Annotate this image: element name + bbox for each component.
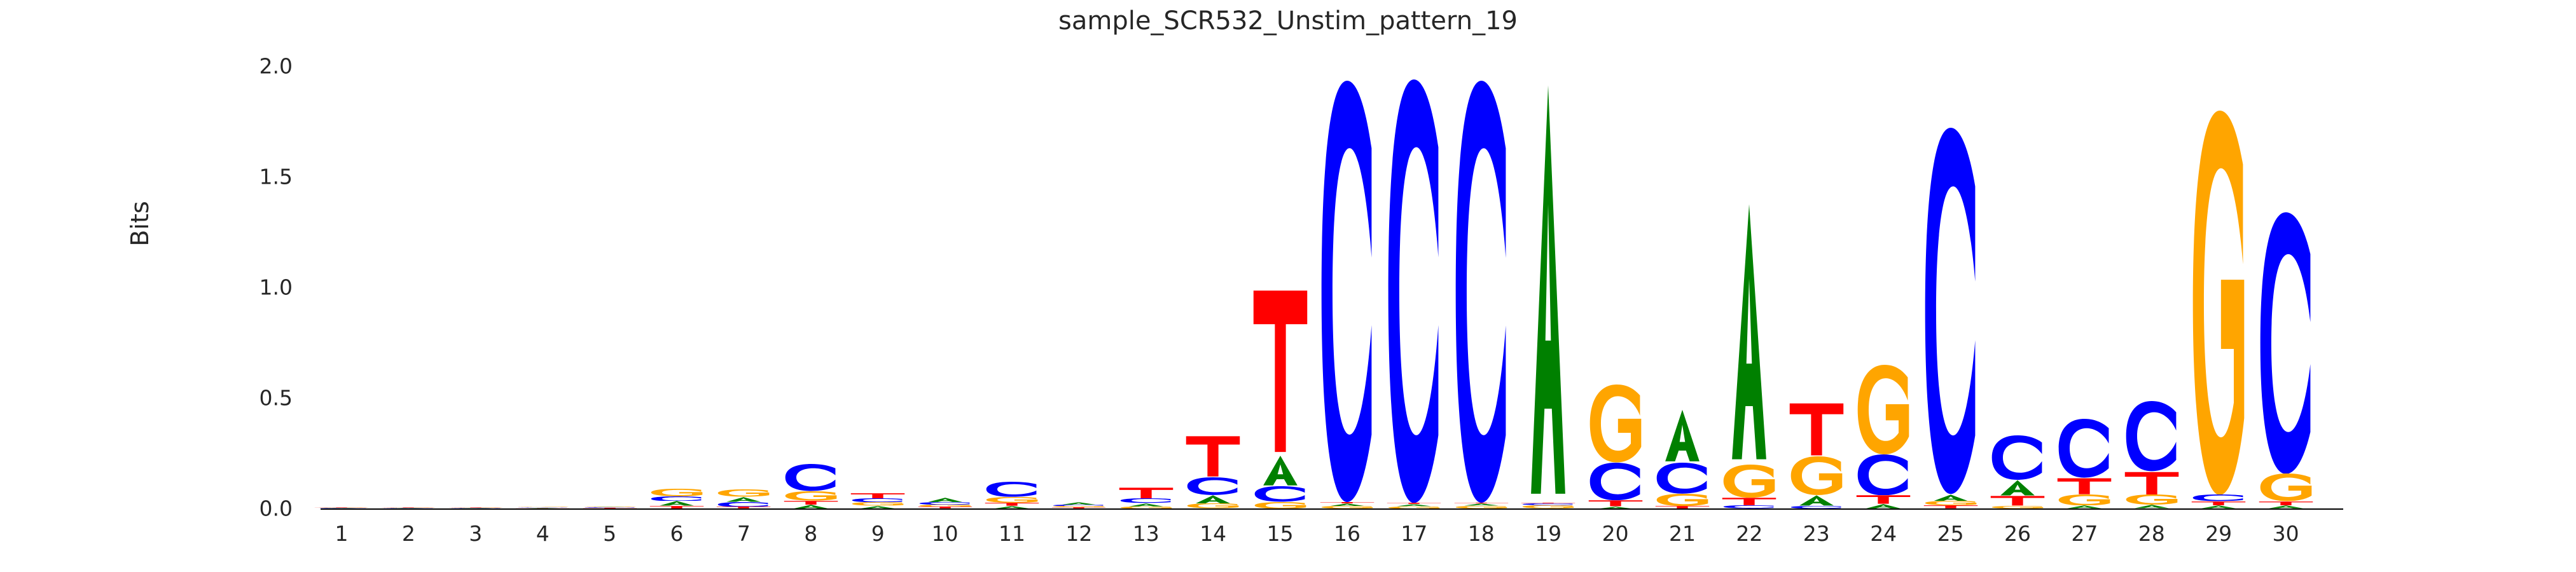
logo-stack — [1048, 502, 1109, 508]
x-tick-label: 17 — [1376, 521, 1452, 546]
x-tick-label: 8 — [773, 521, 849, 546]
x-tick-label: 5 — [572, 521, 648, 546]
x-tick-label: 4 — [504, 521, 581, 546]
x-tick-label: 25 — [1913, 521, 1989, 546]
x-tick-label: 28 — [2114, 521, 2190, 546]
logo-letter-t — [1853, 495, 1914, 504]
logo-letter-t — [1383, 503, 1444, 504]
logo-letter-a — [1987, 480, 2048, 496]
logo-letter-g — [1920, 501, 1981, 505]
logo-letter-t — [847, 493, 908, 498]
logo-letter-a — [1317, 503, 1378, 506]
logo-stack — [780, 464, 841, 508]
x-tick-label: 6 — [639, 521, 715, 546]
logo-letter-t — [1048, 507, 1109, 508]
x-tick-label: 7 — [705, 521, 782, 546]
logo-letter-a — [1920, 494, 1981, 501]
logo-letter-c — [445, 508, 506, 508]
logo-letter-g — [2188, 111, 2249, 495]
logo-letter-c — [1719, 505, 1780, 508]
logo-letter-a — [579, 507, 641, 507]
logo-letter-t — [1920, 505, 1981, 508]
logo-letter-c — [378, 508, 439, 508]
logo-letter-t — [1987, 496, 2048, 506]
logo-letter-c — [1585, 463, 1646, 500]
logo-letter-a — [1116, 503, 1177, 507]
logo-letter-t — [1250, 287, 1311, 455]
logo-stack — [1116, 487, 1177, 508]
logo-stack — [1585, 385, 1646, 508]
x-tick-label: 2 — [370, 521, 447, 546]
logo-letter-a — [445, 508, 506, 508]
logo-letter-a — [2188, 505, 2249, 508]
x-tick-label: 24 — [1845, 521, 1922, 546]
logo-letter-a — [1585, 507, 1646, 508]
logo-letter-t — [1518, 503, 1579, 504]
logo-stack — [1652, 409, 1713, 508]
y-tick-label: 2.0 — [216, 54, 293, 79]
x-tick-label: 29 — [2180, 521, 2257, 546]
logo-letter-g — [1250, 502, 1311, 508]
logo-letter-c — [1987, 435, 2048, 480]
x-tick-label: 20 — [1577, 521, 1654, 546]
logo-letter-a — [378, 508, 439, 508]
logo-stack — [1853, 365, 1914, 508]
logo-letter-a — [1518, 77, 1579, 502]
logo-letter-t — [579, 508, 641, 508]
logo-letter-c — [646, 496, 707, 501]
logo-letter-a — [1853, 504, 1914, 508]
logo-letter-a — [2255, 505, 2316, 508]
x-tick-label: 15 — [1242, 521, 1319, 546]
logo-letter-a — [646, 501, 707, 506]
logo-letter-c — [713, 502, 774, 507]
logo-stack — [311, 507, 372, 508]
logo-stack — [1719, 199, 1780, 508]
x-tick-label: 23 — [1778, 521, 1855, 546]
y-tick-label: 0.5 — [216, 386, 293, 411]
logo-letter-t — [1451, 503, 1512, 504]
x-tick-label: 21 — [1644, 521, 1721, 546]
logo-letter-a — [1786, 495, 1847, 506]
x-tick-label: 10 — [907, 521, 983, 546]
logo-letter-t — [1317, 502, 1378, 503]
logo-letter-g — [713, 489, 774, 496]
logo-letter-t — [1786, 402, 1847, 456]
logo-letter-t — [1652, 506, 1713, 508]
logo-letter-t — [981, 503, 1042, 506]
logo-stack — [1987, 435, 2048, 508]
logo-letter-c — [1652, 463, 1713, 494]
x-axis-line — [321, 508, 2343, 510]
logo-stack — [646, 489, 707, 508]
logo-letter-t — [646, 506, 707, 508]
logo-stack — [1182, 435, 1243, 508]
logo-letter-g — [1987, 506, 2048, 508]
logo-letter-t — [445, 507, 506, 508]
logo-stack — [1786, 402, 1847, 508]
logo-letter-t — [1719, 498, 1780, 505]
logo-stack — [1250, 287, 1311, 508]
y-axis-ticks: 0.00.51.01.52.0 — [210, 0, 293, 572]
x-tick-label: 12 — [1041, 521, 1117, 546]
logo-letter-g — [1048, 506, 1109, 507]
logo-letter-g — [1383, 507, 1444, 508]
logo-letter-g — [1853, 365, 1914, 454]
y-tick-label: 0.0 — [216, 496, 293, 521]
logo-letter-g — [981, 497, 1042, 503]
logo-letter-a — [2121, 505, 2182, 508]
logo-letter-t — [915, 507, 976, 508]
logo-letter-a — [311, 508, 372, 508]
x-tick-label: 3 — [438, 521, 514, 546]
logo-letter-c — [1182, 477, 1243, 495]
logo-stack — [847, 493, 908, 508]
logo-letter-g — [847, 502, 908, 506]
logo-stack — [1920, 128, 1981, 508]
logo-letter-g — [646, 489, 707, 496]
logo-stack — [2188, 111, 2249, 508]
logo-letter-c — [2054, 419, 2115, 478]
logo-letter-a — [847, 506, 908, 508]
logo-letter-c — [981, 482, 1042, 497]
x-tick-label: 9 — [840, 521, 916, 546]
logo-letter-t — [311, 507, 372, 508]
logo-letter-a — [713, 497, 774, 502]
x-tick-label: 1 — [303, 521, 380, 546]
logo-letter-c — [1853, 454, 1914, 495]
logo-letter-g — [1518, 505, 1579, 508]
logo-letter-c — [579, 507, 641, 508]
logo-letter-g — [445, 507, 506, 508]
logo-stack — [512, 507, 573, 508]
logo-letter-c — [2188, 494, 2249, 501]
logo-letter-t — [512, 508, 573, 508]
logo-stack — [1383, 79, 1444, 508]
x-tick-label: 19 — [1510, 521, 1586, 546]
logo-letter-c — [847, 498, 908, 502]
logo-letter-g — [1652, 494, 1713, 506]
x-tick-label: 30 — [2248, 521, 2324, 546]
x-tick-label: 22 — [1711, 521, 1787, 546]
logo-letter-g — [780, 491, 841, 501]
x-tick-label: 27 — [2046, 521, 2122, 546]
logo-letter-c — [1116, 498, 1177, 503]
logo-stack — [915, 498, 976, 508]
logo-letter-a — [1250, 455, 1311, 486]
logo-letter-g — [1719, 465, 1780, 498]
logo-letter-c — [915, 502, 976, 505]
logo-letter-c — [1920, 128, 1981, 494]
x-tick-label: 13 — [1108, 521, 1184, 546]
logo-letter-t — [1585, 500, 1646, 507]
logo-letter-t — [2255, 501, 2316, 505]
logo-letter-g — [1451, 506, 1512, 508]
logo-letter-g — [2121, 494, 2182, 505]
logo-letter-a — [512, 508, 573, 508]
logo-letter-a — [2054, 505, 2115, 508]
logo-letter-c — [512, 507, 573, 508]
logo-letter-t — [2188, 501, 2249, 505]
x-tick-label: 26 — [1979, 521, 2056, 546]
logo-letter-a — [1451, 503, 1512, 505]
logo-letter-a — [1719, 199, 1780, 465]
sequence-logo-figure: sample_SCR532_Unstim_pattern_19 Bits 0.0… — [0, 0, 2576, 572]
logo-letter-c — [1451, 81, 1512, 503]
logo-letter-g — [1116, 507, 1177, 508]
logo-letter-c — [1250, 486, 1311, 501]
y-tick-label: 1.5 — [216, 165, 293, 189]
logo-letter-a — [1048, 502, 1109, 505]
logo-letter-t — [780, 501, 841, 505]
logo-letter-c — [780, 464, 841, 491]
x-tick-label: 11 — [974, 521, 1050, 546]
logo-letter-t — [713, 507, 774, 508]
logo-stack — [445, 507, 506, 508]
logo-stack — [1451, 81, 1512, 508]
logo-letter-a — [981, 506, 1042, 508]
logo-letter-g — [579, 507, 641, 507]
logo-letter-g — [915, 505, 976, 507]
logo-letter-c — [1317, 81, 1378, 502]
logo-letter-t — [2121, 472, 2182, 495]
logo-letter-t — [1116, 487, 1177, 498]
logo-stack — [1317, 81, 1378, 508]
logo-letter-g — [1317, 506, 1378, 508]
logo-letter-c — [2255, 212, 2316, 474]
logo-stack — [2054, 419, 2115, 508]
logo-letter-g — [2255, 473, 2316, 501]
logo-letter-t — [378, 507, 439, 508]
logo-letter-g — [1585, 385, 1646, 462]
logo-letter-c — [1786, 506, 1847, 508]
logo-letter-c — [1048, 505, 1109, 506]
logo-letter-g — [512, 507, 573, 507]
logo-stack — [378, 507, 439, 508]
logo-letter-c — [1518, 503, 1579, 505]
x-tick-label: 18 — [1443, 521, 1520, 546]
logo-letter-g — [1786, 456, 1847, 495]
logo-letter-t — [1182, 435, 1243, 477]
logo-letter-c — [1383, 79, 1444, 503]
logo-stack — [713, 489, 774, 508]
logo-stack — [2121, 401, 2182, 508]
logo-stack — [1518, 77, 1579, 508]
logo-letter-g — [311, 507, 372, 508]
logo-letter-g — [2054, 494, 2115, 505]
logo-stack — [579, 507, 641, 508]
logo-letter-g — [1182, 503, 1243, 508]
logo-letter-a — [915, 498, 976, 502]
logo-letter-a — [1652, 409, 1713, 463]
logo-stack — [2255, 212, 2316, 508]
logo-letter-a — [780, 505, 841, 508]
logo-letter-t — [2054, 478, 2115, 494]
x-tick-label: 14 — [1175, 521, 1251, 546]
logo-letter-g — [378, 507, 439, 508]
logo-letter-c — [2121, 401, 2182, 471]
logo-letter-a — [1383, 504, 1444, 506]
logo-stack — [981, 482, 1042, 508]
y-tick-label: 1.0 — [216, 275, 293, 300]
logo-letter-c — [311, 508, 372, 508]
plot-area: 1234567891011121314151617181920212223242… — [321, 0, 2343, 572]
x-tick-label: 16 — [1309, 521, 1385, 546]
y-axis-label: Bits — [126, 147, 154, 300]
logo-letter-a — [1182, 495, 1243, 503]
